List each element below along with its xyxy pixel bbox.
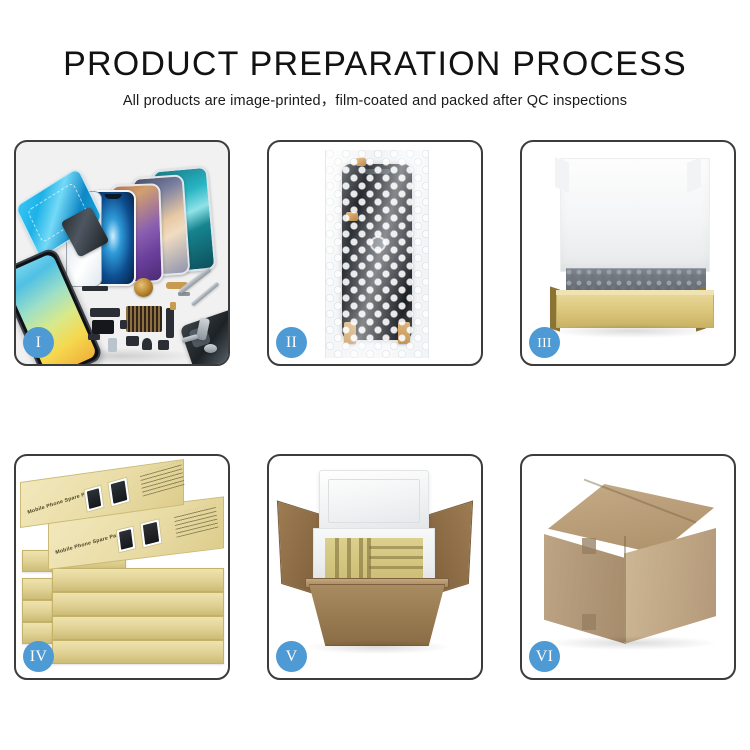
connector-array-part [126, 306, 162, 332]
part-chip [120, 320, 127, 329]
speaker-coil-part [134, 278, 153, 297]
box-label-text: Mobile Phone Spare Parts [55, 531, 124, 556]
process-step-grid: I II [14, 140, 736, 680]
kraft-box-lip [556, 290, 714, 295]
process-step-4: Mobile Phone Spare Parts Mobile Phone Sp… [14, 454, 230, 680]
process-step-3: III [520, 140, 736, 366]
box-edge-line [369, 556, 423, 559]
part-chip [88, 334, 100, 340]
bubble-wrap-bag [325, 150, 429, 358]
part-chip [92, 320, 114, 334]
product-preparation-infographic: PRODUCT PREPARATION PROCESS All products… [0, 0, 750, 750]
box-label-thumbnail [83, 484, 104, 512]
repair-tool-set [174, 278, 228, 362]
box-divider [359, 538, 363, 578]
tool-pick [182, 334, 199, 343]
object-shadow [550, 324, 714, 338]
header: PRODUCT PREPARATION PROCESS All products… [0, 0, 750, 110]
process-step-2: II [267, 140, 483, 366]
lid-flap-right [687, 157, 701, 193]
lid-flap-left [555, 157, 569, 193]
tool-suction-cup [204, 344, 217, 353]
part-chip [166, 308, 174, 338]
box-label-spec-lines [140, 462, 185, 497]
step-badge-3: III [529, 327, 560, 358]
step-badge-1: I [23, 327, 54, 358]
process-step-5: V [267, 454, 483, 680]
box-label-thumbnail [107, 477, 130, 508]
part-chip [108, 338, 117, 352]
process-step-6: VI [520, 454, 736, 680]
box-label-thumbnail [139, 518, 162, 548]
kraft-box-layer [52, 592, 224, 616]
kraft-box-layer [52, 568, 224, 592]
process-step-1: I [14, 140, 230, 366]
styrofoam-lid [319, 470, 429, 532]
carton-front-panel [309, 584, 445, 646]
part-chip [126, 336, 139, 346]
box-divider [335, 538, 339, 578]
carton-vertical-edge [624, 536, 626, 642]
phone-notch [105, 194, 122, 199]
kraft-box-front [556, 292, 714, 328]
page-title: PRODUCT PREPARATION PROCESS [0, 44, 750, 84]
step-badge-5: V [276, 641, 307, 672]
step-badge-4: IV [23, 641, 54, 672]
kraft-box-layer [52, 616, 224, 640]
carton-tape-upper [582, 538, 596, 554]
object-shadow [307, 640, 449, 654]
step-badge-6: VI [529, 641, 560, 672]
box-label-spec-lines [174, 504, 219, 538]
box-edge-line [369, 566, 423, 569]
part-chip [158, 340, 169, 350]
page-subtitle: All products are image-printed，film-coat… [0, 92, 750, 110]
box-label-thumbnail [116, 525, 137, 553]
carton-tape-lower [582, 614, 596, 630]
part-chip [90, 308, 120, 317]
kraft-box-layer [52, 640, 224, 664]
box-edge-line [369, 546, 423, 549]
part-chip [82, 286, 108, 291]
step-badge-2: II [276, 327, 307, 358]
object-shadow [548, 636, 716, 650]
tool-tweezer [191, 282, 220, 307]
plastic-sheen [326, 150, 428, 358]
part-chip [142, 338, 152, 350]
kraft-boxes-inside [325, 538, 423, 578]
box-divider [347, 538, 351, 578]
